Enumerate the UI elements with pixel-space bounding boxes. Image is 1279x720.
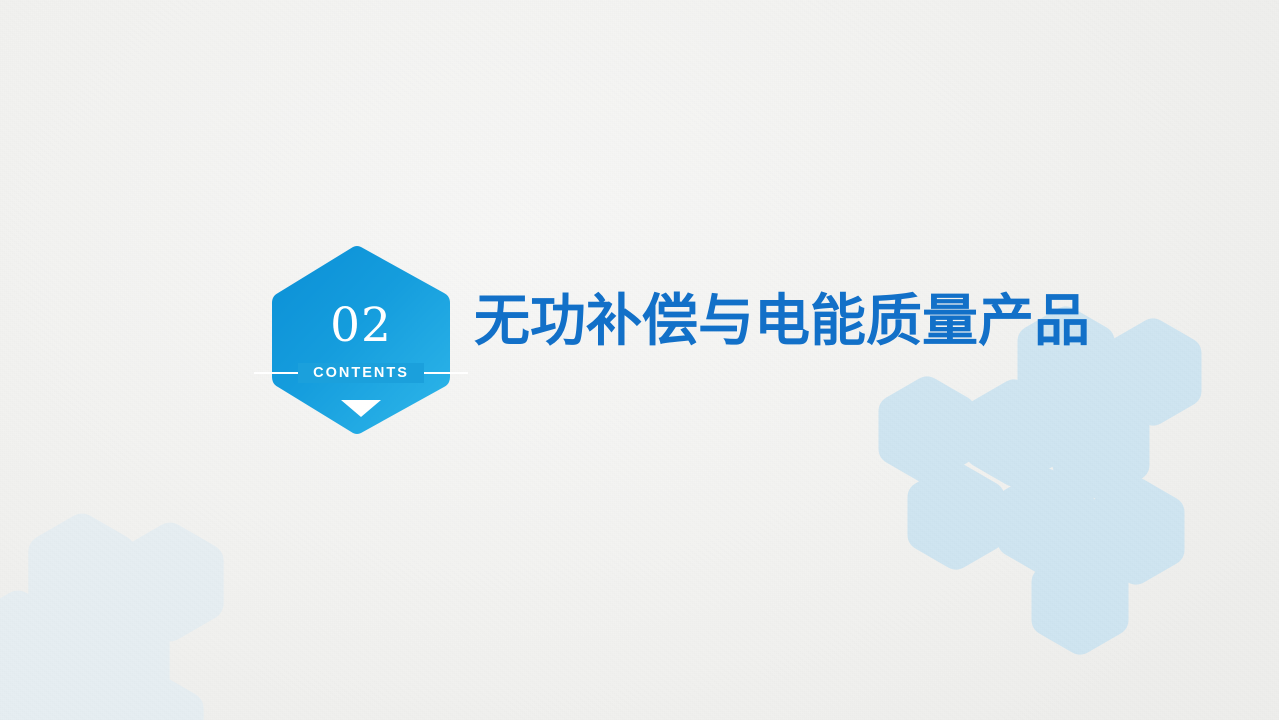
badge-label: CONTENTS [268, 363, 454, 383]
section-number: 02 [268, 302, 454, 349]
section-title: 无功补偿与电能质量产品 [474, 293, 1090, 349]
badge-label-text: CONTENTS [306, 365, 416, 381]
triangle-down-icon [341, 400, 381, 417]
hexagon-decoration-right [0, 0, 1279, 720]
slide-canvas: 02 CONTENTS 无功补偿与电能质量产品 [0, 0, 1279, 720]
section-number-badge: 02 CONTENTS [268, 244, 454, 436]
paper-texture-overlay [0, 0, 1279, 720]
hexagon-decoration-left [0, 0, 1279, 720]
